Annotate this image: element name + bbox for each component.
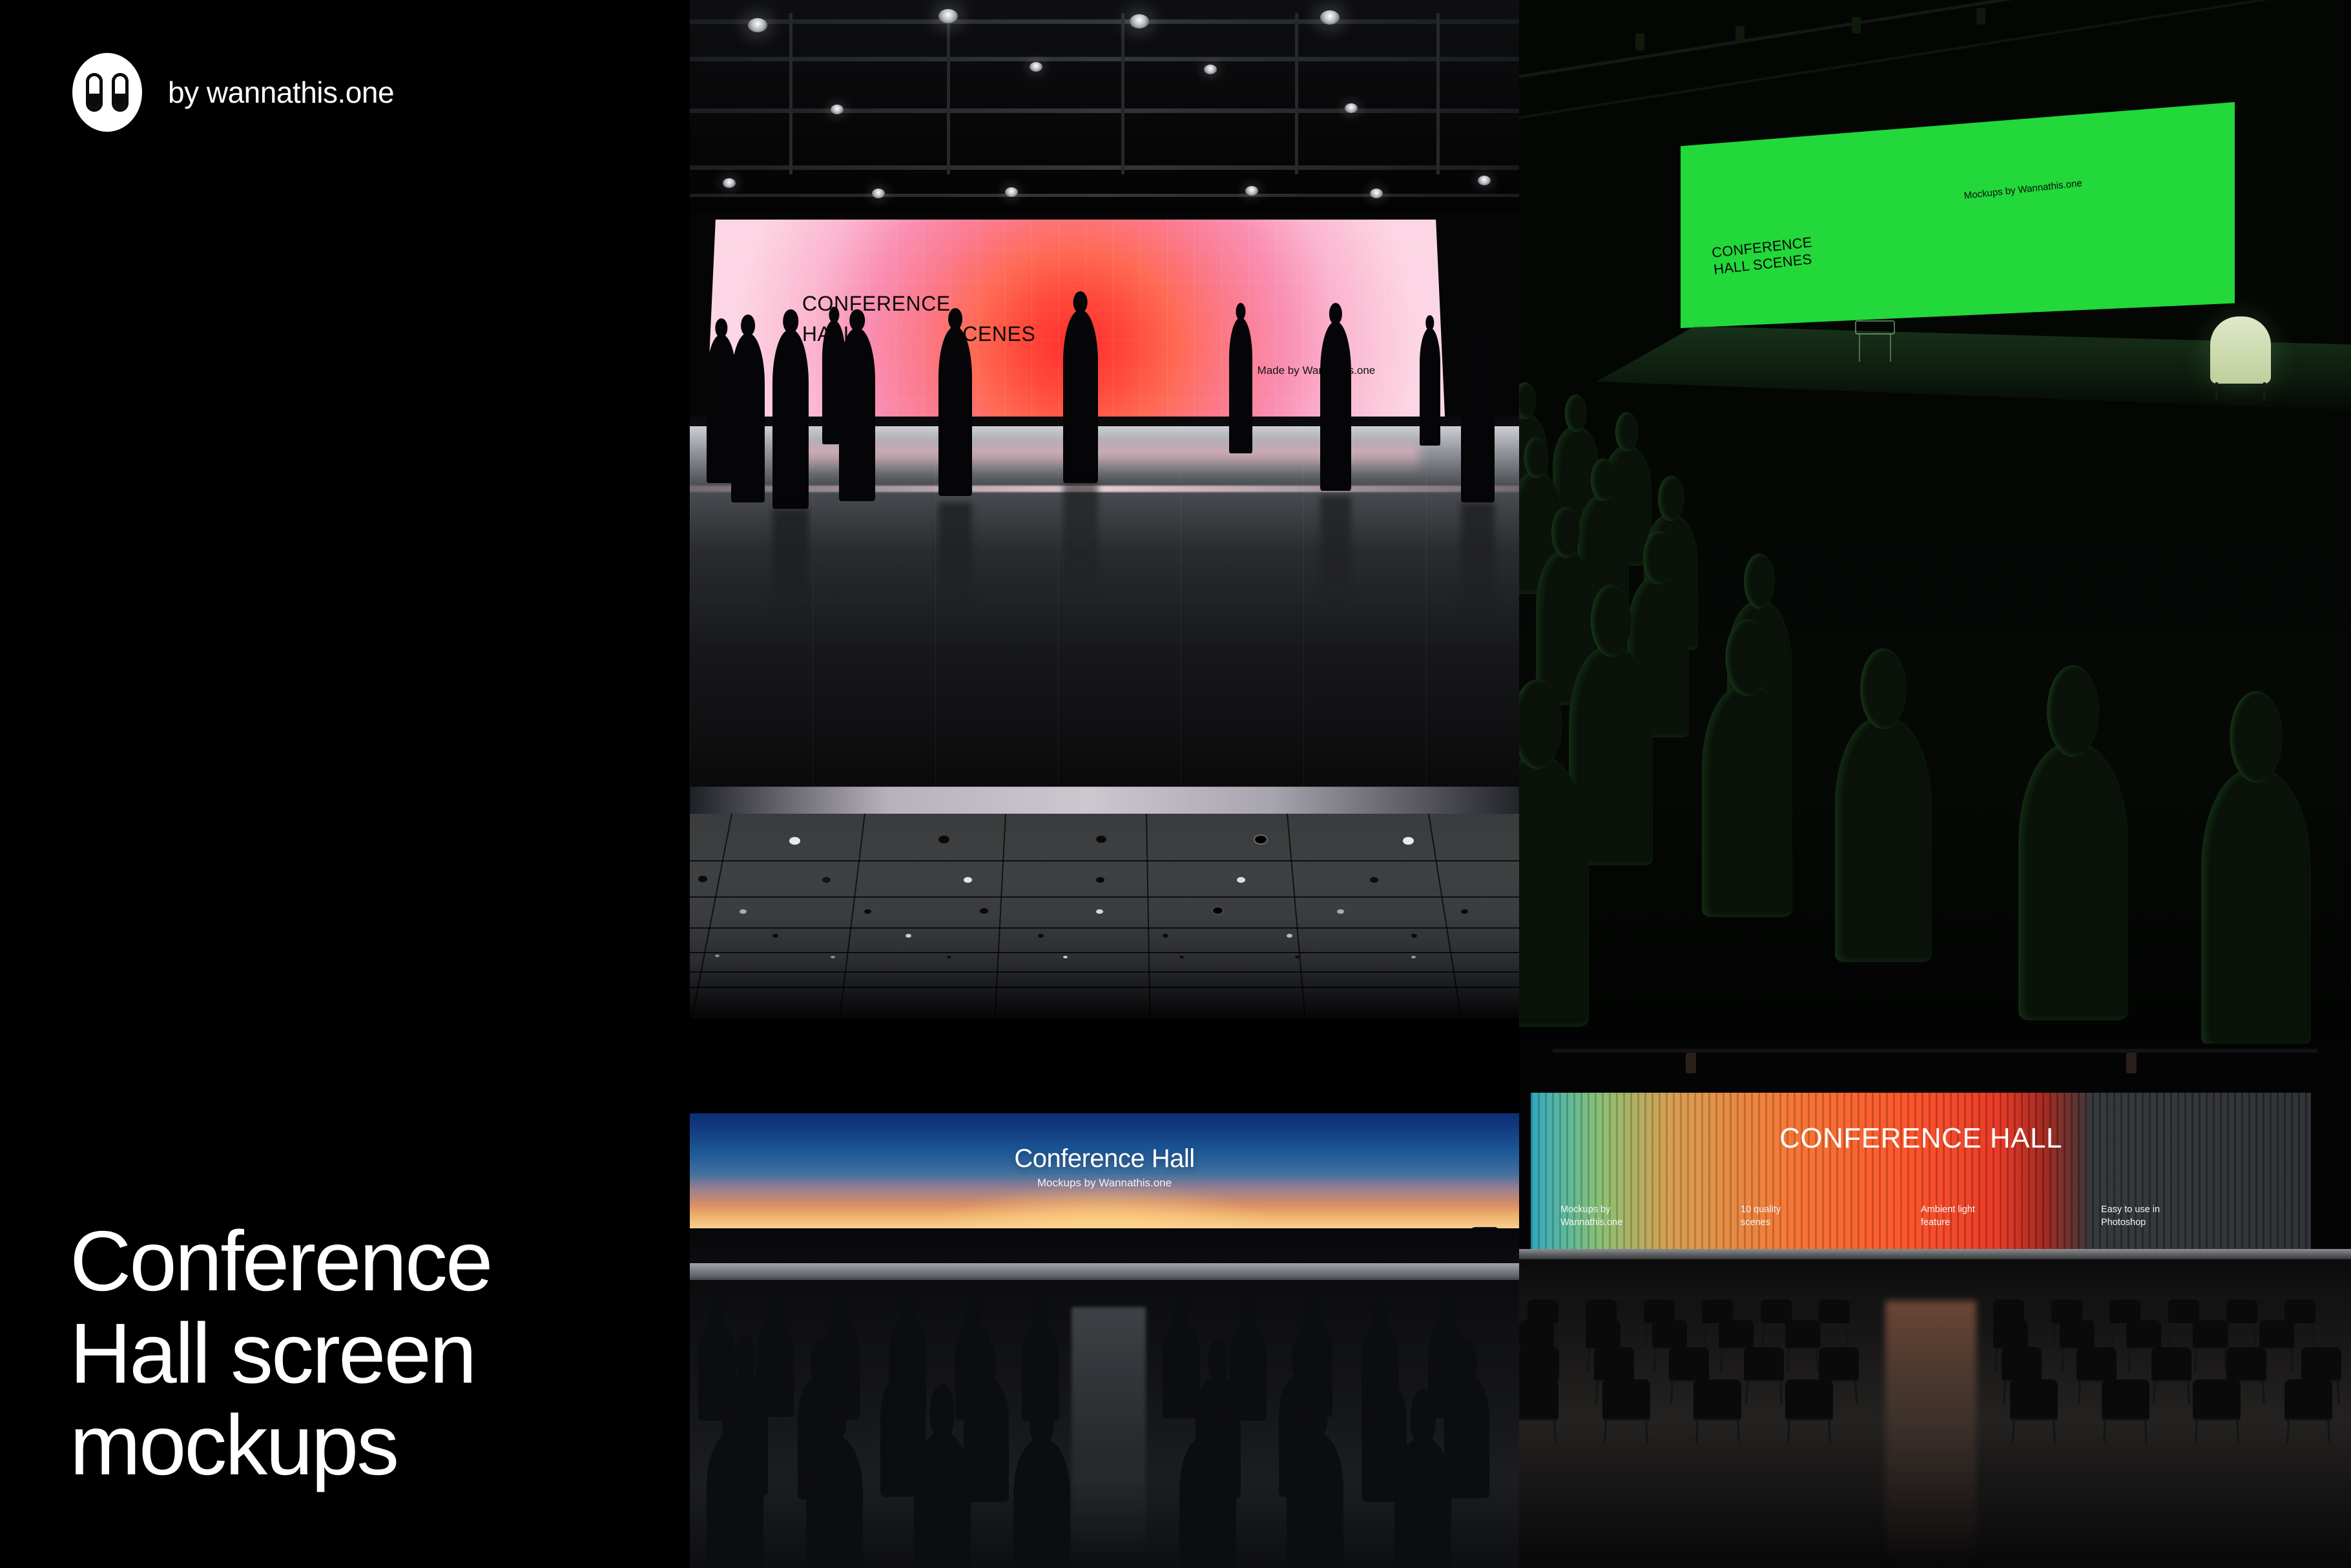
silhouette-person [1420,328,1440,446]
page-title-line-1: Conference [70,1215,491,1308]
page-title: Conference Hall screen mockups [70,1215,491,1492]
chair [2301,1347,2341,1382]
floor-reflection [1063,483,1098,593]
silhouette-person [772,329,809,509]
rig-pipe [789,13,792,174]
seated-person [1444,1376,1489,1498]
chair [1519,1347,1559,1382]
scene-orange-stripe-hall: CONFERENCE HALL Mockups by Wannathis.one… [1519,1044,2351,1568]
center-aisle [1072,1307,1146,1568]
seated-person [914,1432,971,1568]
seated-person [707,1431,763,1568]
rig-pipe [947,13,950,174]
audience-person [1519,756,1589,1027]
label-line-2: scenes [1741,1217,1921,1230]
orange-screen-title: CONFERENCE HALL [1531,1122,2311,1155]
stage-spotlight-icon [1686,1053,1696,1073]
audience-person [1702,685,1792,917]
stage-spotlight-icon [1370,189,1383,198]
orange-screen-label: Mockups by Wannathis.one [1560,1204,1741,1229]
label-line-1: Easy to use in [2101,1204,2281,1217]
chair [1785,1379,1833,1421]
chair [2102,1379,2149,1421]
audience-person [2201,769,2311,1044]
scene-green-screen-hall: CONFERENCE HALL SCENES Mockups by Wannat… [1519,0,2351,1044]
stage-spotlight-icon [1204,65,1217,74]
truss-bar [690,194,1519,197]
seated-person [806,1436,863,1568]
orange-screen-label: 10 quality scenes [1741,1204,1921,1229]
stage-spotlight-icon [748,18,767,32]
stage-spotlight-icon [2126,1053,2137,1073]
chair [2151,1347,2191,1382]
chair [2193,1320,2228,1350]
stage-spotlight-icon [1976,8,1985,25]
chair [1669,1347,1709,1382]
page-title-line-2: Hall screen [70,1308,491,1400]
stage-armchair [2210,316,2271,384]
seated-person [1179,1435,1236,1568]
side-table [1855,320,1895,335]
scene-sunset-hall: Conference Hall Mockups by Wannathis.one [690,1113,1519,1568]
audience-person [1835,717,1932,962]
orange-screen-labels: Mockups by Wannathis.one 10 quality scen… [1531,1204,2311,1229]
scene-ceiling-grid [690,787,1519,1019]
chair [2226,1299,2257,1325]
led-screen-credit: Made by Wannathis.one [1258,364,1376,377]
chair [2126,1320,2161,1350]
label-line-2: feature [1921,1217,2101,1230]
stage-shadow-band [690,1228,1519,1266]
green-screen-credit: Mockups by Wannathis.one [1963,178,2082,201]
orange-screen-label: Easy to use in Photoshop [2101,1204,2281,1229]
brand-lockup: by wannathis.one [72,53,394,132]
floor-reflection [772,509,809,619]
stage-spotlight-icon [1030,62,1042,72]
chair [1519,1379,1559,1421]
label-line-2: Wannathis.one [1560,1217,1741,1230]
center-aisle [1885,1301,1977,1568]
ceiling-rig [690,0,1519,213]
ceiling-panels [690,814,1519,1019]
reflective-floor [690,426,1519,787]
chair [2259,1320,2294,1350]
brand-byline: by wannathis.one [168,75,394,110]
chair [2193,1379,2241,1421]
stage-spotlight-icon [1130,14,1149,28]
sunset-glow [922,1183,1287,1235]
chair [1819,1299,1850,1325]
chair [2226,1347,2266,1382]
silhouette-person [822,320,845,444]
truss-bar [690,165,1519,170]
stage-spotlight-icon [938,9,958,23]
seated-person [1287,1432,1343,1568]
stage-spotlight-icon [1852,17,1861,34]
silhouette-person [1461,327,1495,502]
chair [2010,1379,2058,1421]
chair [1785,1320,1820,1350]
silhouette-person [1063,310,1098,483]
rig-pipe [1436,13,1440,174]
chair [1586,1320,1621,1350]
middle-column: CONFERENCE HALL SCENES Made by Wannathis… [690,0,1519,1568]
floor-reflection [1461,502,1495,612]
seated-person [1394,1438,1451,1568]
chair [2284,1379,2332,1421]
label-line-1: 10 quality [1741,1204,1921,1217]
seated-person [1013,1439,1070,1568]
green-screen: CONFERENCE HALL SCENES Mockups by Wannat… [1681,102,2235,328]
green-screen-title: CONFERENCE HALL SCENES [1711,234,1815,278]
truss-bar [690,19,1519,24]
eyes-logo-icon [72,53,142,132]
poster-canvas: by wannathis.one Conference Hall screen … [0,0,2351,1568]
label-line-1: Mockups by [1560,1204,1741,1217]
chair [2077,1347,2117,1382]
floor-tile-lines [690,426,1519,787]
sunset-screen-subtitle: Mockups by Wannathis.one [690,1177,1519,1190]
chair [2060,1320,2095,1350]
chair [1819,1347,1859,1382]
label-line-2: Photoshop [2101,1217,2281,1230]
orange-stripe-screen: CONFERENCE HALL Mockups by Wannathis.one… [1531,1093,2311,1253]
stage-spotlight-icon [1635,34,1644,50]
logo-eye-left [86,73,103,112]
chair [1693,1379,1741,1421]
floor-reflection [1320,496,1351,599]
stage-spotlight-icon [1735,26,1745,43]
rig-pipe [1295,13,1298,174]
stage-spotlight-icon [1005,187,1018,197]
light-rail [690,486,1519,492]
chair [2002,1347,2042,1382]
silhouette-person [938,327,972,496]
chair [1744,1347,1784,1382]
silhouette-person [1229,318,1252,453]
logo-eye-right [112,73,129,112]
truss-bar [690,108,1519,113]
brand-column: by wannathis.one Conference Hall screen … [0,0,690,1568]
rig-pipe [1121,13,1124,174]
stage-pit [1519,1259,2351,1306]
label-line-1: Ambient light [1921,1204,2101,1217]
rig-bar [1553,1049,2318,1053]
silhouette-person [1320,322,1351,491]
truss-bar [690,57,1519,61]
chair [1652,1320,1687,1350]
chair [1594,1347,1634,1382]
right-column: CONFERENCE HALL SCENES Mockups by Wannat… [1519,0,2351,1568]
chair [1602,1379,1650,1421]
stage-spotlight-icon [723,178,736,188]
stage-spotlight-icon [1320,10,1340,25]
audience-person [2018,743,2128,1020]
orange-screen-label: Ambient light feature [1921,1204,2101,1229]
scene-pink-led-hall: CONFERENCE HALL SCENES Made by Wannathis… [690,0,1519,787]
silhouette-person [731,333,765,502]
chair [1993,1320,2028,1350]
chair [1519,1320,1554,1350]
seated-person [1163,1321,1200,1418]
floor-reflection [938,502,972,606]
chair [1719,1320,1754,1350]
sunset-screen-title: Conference Hall [690,1144,1519,1173]
page-title-line-3: mockups [70,1399,491,1492]
ceiling-upper-wash [690,787,1519,815]
stage-spotlight-icon [1478,176,1491,185]
